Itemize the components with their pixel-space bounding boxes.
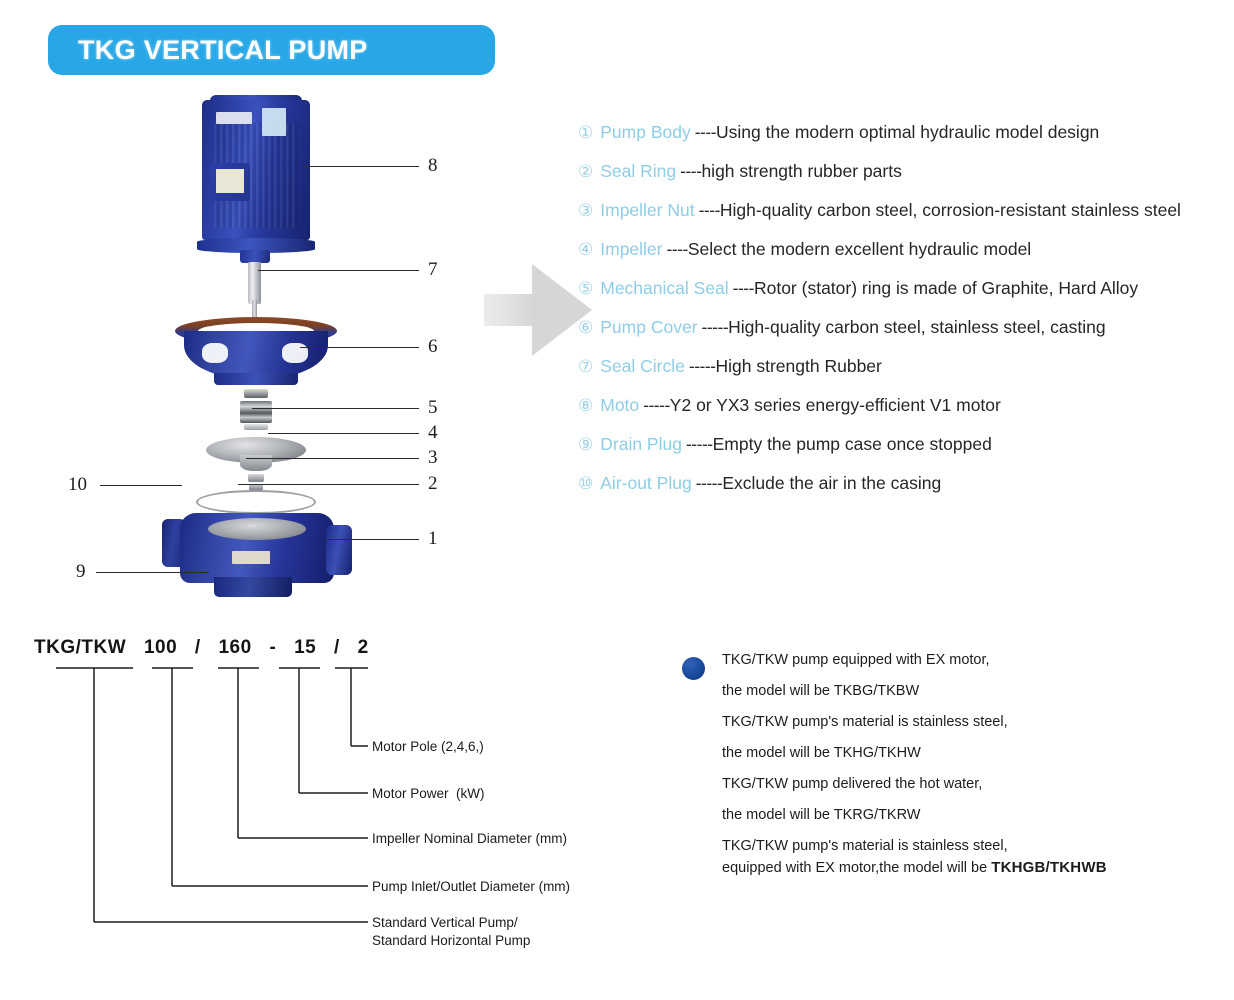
note-line-2: the model will be TKBG/TKBW — [722, 683, 1222, 699]
nomenclature-label-inlet-outlet: Pump Inlet/Outlet Diameter (mm) — [372, 878, 570, 896]
motor-nameplate — [216, 112, 252, 124]
page-title: TKG VERTICAL PUMP — [48, 35, 368, 66]
legend-part-name-5: Mechanical Seal — [600, 278, 728, 299]
callout-line-8 — [303, 166, 419, 167]
pump-cover-window-right — [282, 343, 308, 363]
legend-description-10: Exclude the air in the casing — [722, 473, 941, 494]
pump-body-flange-right — [326, 525, 352, 575]
legend-description-3: High-quality carbon steel, corrosion-res… — [720, 200, 1181, 221]
legend-number-6: ⑥ — [578, 318, 593, 338]
model-leader-lines — [20, 625, 620, 965]
seal-washer — [244, 424, 268, 430]
seal-nut-upper — [244, 389, 268, 398]
legend-dash-1: ---- — [695, 122, 716, 143]
legend-part-name-9: Drain Plug — [600, 434, 682, 455]
legend-description-1: Using the modern optimal hydraulic model… — [716, 122, 1099, 143]
callout-line-9 — [96, 572, 209, 573]
note-line-7: TKG/TKW pump's material is stainless ste… — [722, 838, 1222, 854]
seal-ring-oring — [196, 490, 316, 514]
motor-terminal-plate — [216, 169, 244, 193]
note-line-3: TKG/TKW pump's material is stainless ste… — [722, 714, 1222, 730]
nomenclature-label-motor-pole: Motor Pole (2,4,6,) — [372, 738, 484, 756]
callout-number-10: 10 — [68, 474, 87, 496]
legend-number-2: ② — [578, 162, 593, 182]
pump-spec-page: TKG VERTICAL PUMP — [0, 0, 1234, 1000]
legend-item-seal-ring: ② Seal Ring ---- high strength rubber pa… — [578, 161, 1228, 182]
nomenclature-label-standard-vertical: Standard Vertical Pump/ — [372, 914, 518, 932]
callout-number-6: 6 — [428, 336, 438, 358]
legend-description-8: Y2 or YX3 series energy-efficient V1 mot… — [670, 395, 1001, 416]
legend-item-drain-plug: ⑨ Drain Plug ----- Empty the pump case o… — [578, 434, 1228, 455]
legend-part-name-4: Impeller — [600, 239, 662, 260]
legend-item-pump-body: ① Pump Body ---- Using the modern optima… — [578, 122, 1228, 143]
legend-part-name-2: Seal Ring — [600, 161, 676, 182]
callout-line-4 — [268, 433, 419, 434]
legend-part-name-8: Moto — [600, 395, 639, 416]
callout-line-10 — [100, 485, 182, 486]
legend-number-1: ① — [578, 123, 593, 143]
callout-number-1: 1 — [428, 528, 438, 550]
legend-dash-10: ----- — [696, 473, 723, 494]
note-line-5: TKG/TKW pump delivered the hot water, — [722, 776, 1222, 792]
callout-number-5: 5 — [428, 397, 438, 419]
parts-legend-list: ① Pump Body ---- Using the modern optima… — [578, 122, 1228, 512]
legend-item-seal-circle: ⑦ Seal Circle ----- High strength Rubber — [578, 356, 1228, 377]
legend-description-2: high strength rubber parts — [701, 161, 901, 182]
note-line-8-prefix: equipped with EX motor,the model will be — [722, 860, 991, 876]
pump-cover-window-left — [202, 343, 228, 363]
legend-description-7: High strength Rubber — [716, 356, 882, 377]
nomenclature-label-impeller-dia: Impeller Nominal Diameter (mm) — [372, 830, 567, 848]
legend-item-moto: ⑧ Moto ----- Y2 or YX3 series energy-eff… — [578, 395, 1228, 416]
legend-number-5: ⑤ — [578, 279, 593, 299]
callout-line-6 — [300, 347, 419, 348]
pump-body-nameplate — [232, 551, 270, 564]
legend-number-8: ⑧ — [578, 396, 593, 416]
bullet-dot-icon — [682, 657, 705, 680]
legend-part-name-10: Air-out Plug — [600, 473, 691, 494]
legend-number-7: ⑦ — [578, 357, 593, 377]
legend-description-5: Rotor (stator) ring is made of Graphite,… — [754, 278, 1138, 299]
mechanical-seal-part — [240, 401, 272, 423]
callout-line-5 — [252, 408, 419, 409]
pump-cover-base — [214, 373, 298, 385]
exploded-pump-illustration — [140, 95, 380, 595]
legend-dash-3: ---- — [699, 200, 720, 221]
callout-number-3: 3 — [428, 447, 438, 469]
callout-number-7: 7 — [428, 259, 438, 281]
callout-number-2: 2 — [428, 473, 438, 495]
legend-item-impeller: ④ Impeller ---- Select the modern excell… — [578, 239, 1228, 260]
legend-item-pump-cover: ⑥ Pump Cover ----- High-quality carbon s… — [578, 317, 1228, 338]
model-variant-notes: TKG/TKW pump equipped with EX motor, the… — [682, 652, 1222, 891]
legend-part-name-3: Impeller Nut — [600, 200, 694, 221]
note-line-6: the model will be TKRG/TKRW — [722, 807, 1222, 823]
callout-line-2 — [238, 484, 419, 485]
legend-dash-8: ----- — [643, 395, 670, 416]
callout-line-3 — [246, 458, 419, 459]
callout-number-4: 4 — [428, 422, 438, 444]
legend-number-9: ⑨ — [578, 435, 593, 455]
model-nomenclature-block: TKG/TKW 100 / 160 - 15 / 2 — [20, 625, 620, 965]
legend-number-4: ④ — [578, 240, 593, 260]
legend-item-impeller-nut: ③ Impeller Nut ---- High-quality carbon … — [578, 200, 1228, 221]
pump-body-bore — [208, 518, 306, 540]
legend-item-air-out-plug: ⑩ Air-out Plug ----- Exclude the air in … — [578, 473, 1228, 494]
nomenclature-label-standard-horizontal: Standard Horizontal Pump — [372, 932, 530, 950]
callout-line-1 — [326, 539, 419, 540]
legend-description-9: Empty the pump case once stopped — [713, 434, 992, 455]
title-banner: TKG VERTICAL PUMP — [48, 25, 495, 75]
legend-dash-4: ---- — [667, 239, 688, 260]
legend-dash-9: ----- — [686, 434, 713, 455]
note-line-4: the model will be TKHG/TKHW — [722, 745, 1222, 761]
legend-dash-5: ---- — [733, 278, 754, 299]
legend-number-3: ③ — [578, 201, 593, 221]
legend-item-mechanical-seal: ⑤ Mechanical Seal ---- Rotor (stator) ri… — [578, 278, 1228, 299]
legend-part-name-6: Pump Cover — [600, 317, 697, 338]
motor-sticker — [262, 108, 286, 136]
legend-description-4: Select the modern excellent hydraulic mo… — [688, 239, 1031, 260]
motor-shaft — [248, 262, 261, 304]
note-line-8-model: TKHGB/TKHWB — [991, 859, 1107, 876]
pump-body-base-foot — [214, 577, 292, 597]
impeller-nut-part — [248, 474, 264, 482]
legend-dash-2: ---- — [680, 161, 701, 182]
callout-number-8: 8 — [428, 155, 438, 177]
legend-dash-7: ----- — [689, 356, 716, 377]
legend-description-6: High-quality carbon steel, stainless ste… — [728, 317, 1105, 338]
legend-dash-6: ----- — [702, 317, 729, 338]
nomenclature-label-motor-power: Motor Power (kW) — [372, 785, 485, 803]
callout-number-9: 9 — [76, 561, 86, 583]
note-line-8: equipped with EX motor,the model will be… — [722, 859, 1222, 876]
callout-line-7 — [258, 270, 419, 271]
legend-number-10: ⑩ — [578, 474, 593, 494]
legend-part-name-7: Seal Circle — [600, 356, 685, 377]
legend-part-name-1: Pump Body — [600, 122, 690, 143]
note-line-1: TKG/TKW pump equipped with EX motor, — [722, 652, 1222, 668]
